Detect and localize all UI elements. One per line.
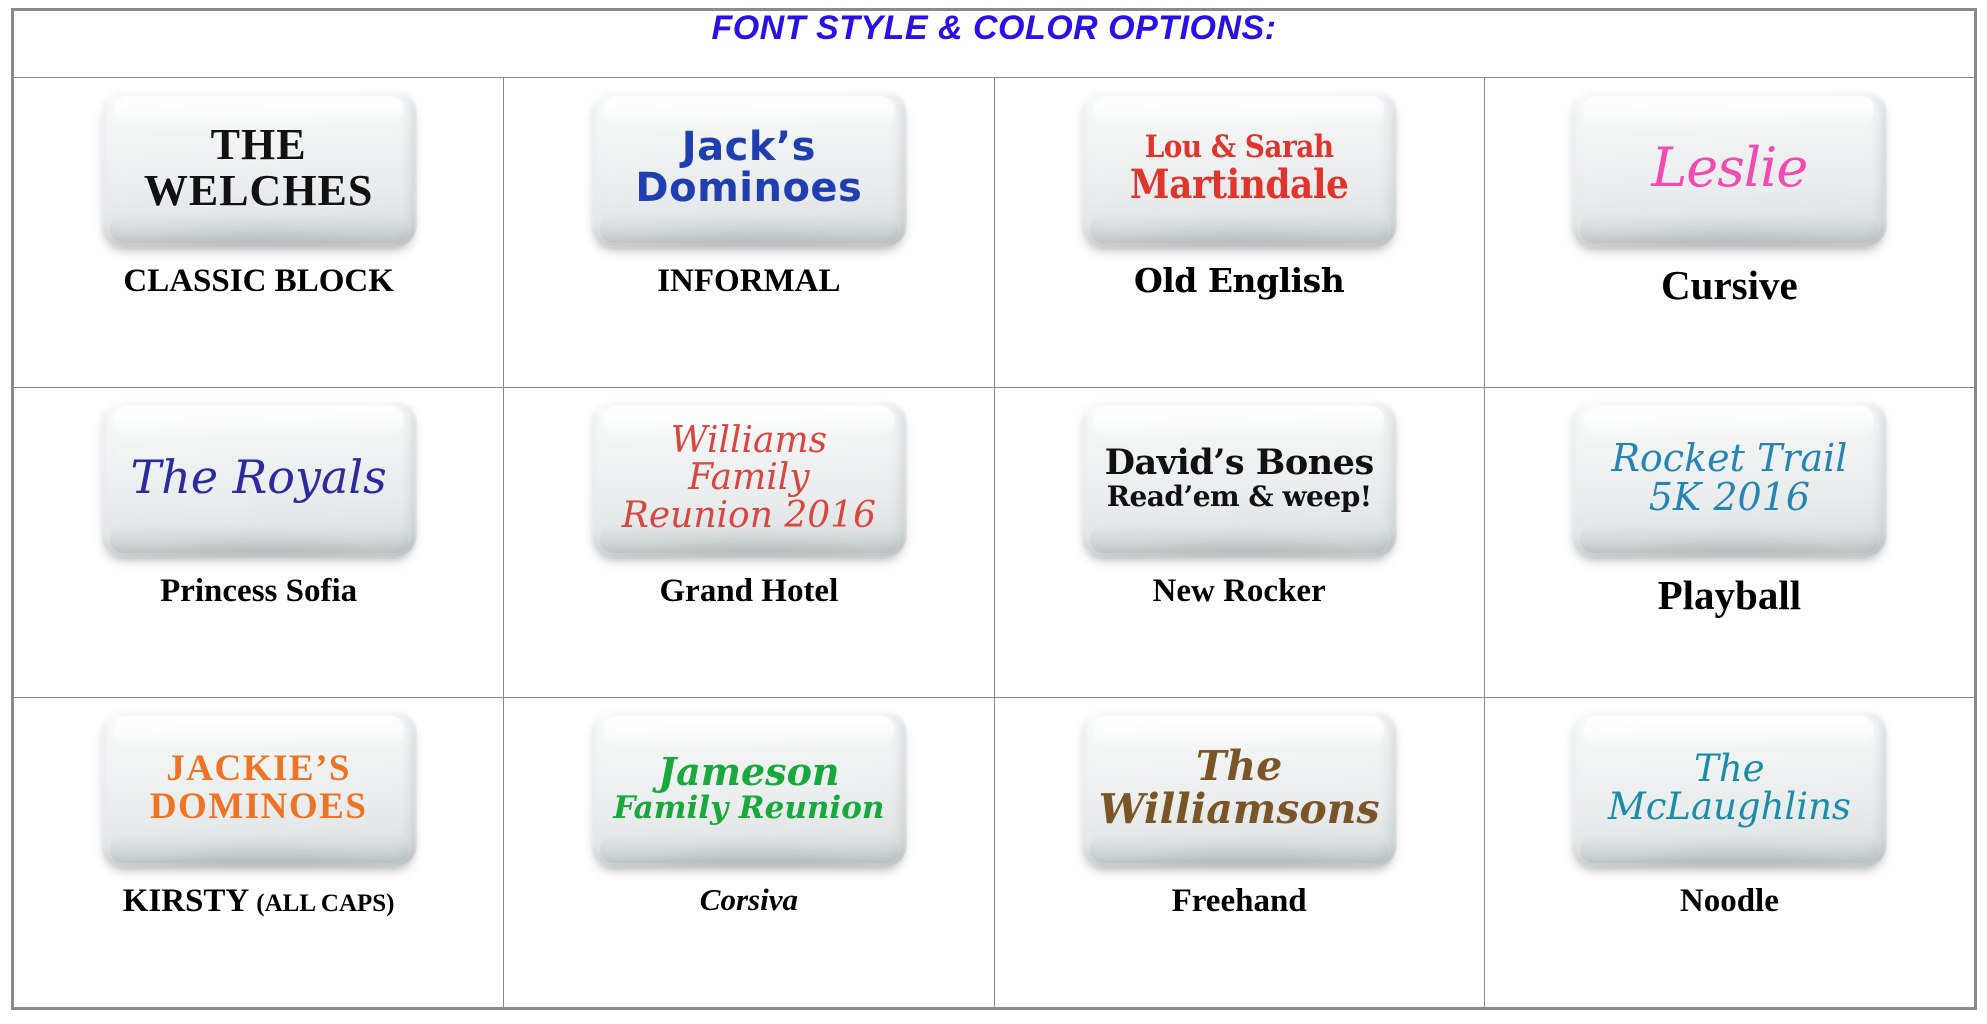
tile-line-2: Dominoes — [115, 788, 403, 826]
tile-line-2: McLaughlins — [1585, 788, 1873, 826]
font-name-label: Old English — [1134, 264, 1344, 299]
tile-line-2: Family Reunion — [605, 792, 893, 824]
tile-line-1: The Royals — [131, 450, 387, 504]
font-grid: FONT STYLE & COLOR OPTIONS: THE WELCHES … — [13, 10, 1975, 1008]
tile-line-1: Jameson — [658, 749, 839, 794]
font-name-label: CLASSIC BLOCK — [123, 264, 394, 299]
font-option-cell-kirsty[interactable]: Jackie’s Dominoes KIRSTY (ALL CAPS) — [14, 698, 504, 1008]
font-option-cell-new-rocker[interactable]: David’s Bones Read’em & weep! New Rocker — [994, 388, 1484, 698]
font-options-page: FONT STYLE & COLOR OPTIONS: THE WELCHES … — [0, 0, 1987, 1024]
font-name-note: (ALL CAPS) — [256, 890, 394, 917]
tile-inscription: Lou & Sarah Martindale — [1081, 131, 1397, 205]
font-name-label: Grand Hotel — [660, 574, 839, 609]
tile-line-2: Reunion 2016 — [605, 497, 893, 534]
domino-tile-noodle: The McLaughlins — [1571, 709, 1887, 867]
font-option-cell-freehand[interactable]: The Williamsons Freehand — [994, 698, 1484, 1008]
header-cell: FONT STYLE & COLOR OPTIONS: — [14, 11, 1975, 78]
font-name-label: Corsiva — [700, 884, 798, 917]
tile-line-1: The — [1694, 747, 1764, 790]
font-name-main: KIRSTY — [123, 883, 248, 919]
font-row-3: Jackie’s Dominoes KIRSTY (ALL CAPS) — [14, 698, 1975, 1008]
font-name-label: Princess Sofia — [160, 574, 357, 609]
font-row-1: THE WELCHES CLASSIC BLOCK Jack’s Dominoe… — [14, 78, 1975, 388]
tile-line-2: Read’em & weep! — [1095, 482, 1383, 511]
tile-line-2: Martindale — [1095, 164, 1383, 206]
tile-line-2: Williamsons — [1095, 788, 1383, 831]
domino-tile-grand-hotel: Williams Family Reunion 2016 — [591, 399, 907, 557]
font-option-cell-grand-hotel[interactable]: Williams Family Reunion 2016 Grand Hotel — [504, 388, 994, 698]
tile-line-1: Lou & Sarah — [1095, 131, 1383, 163]
tile-line-2: WELCHES — [115, 168, 403, 214]
domino-tile-informal: Jack’s Dominoes — [591, 89, 907, 247]
tile-line-1: The — [1196, 742, 1282, 790]
tile-inscription: Jack’s Dominoes — [591, 127, 907, 210]
font-option-cell-princess-sofia[interactable]: The Royals Princess Sofia — [14, 388, 504, 698]
font-row-2: The Royals Princess Sofia Williams Famil… — [14, 388, 1975, 698]
domino-tile-cursive: Leslie — [1571, 89, 1887, 247]
tile-line-1: Williams Family — [671, 420, 828, 498]
font-name-label: New Rocker — [1153, 574, 1326, 609]
domino-tile-kirsty: Jackie’s Dominoes — [101, 709, 417, 867]
tile-inscription: Rocket Trail 5K 2016 — [1571, 439, 1887, 518]
font-option-cell-playball[interactable]: Rocket Trail 5K 2016 Playball — [1484, 388, 1974, 698]
tile-line-1: Rocket Trail — [1611, 436, 1847, 480]
tile-inscription: Williams Family Reunion 2016 — [591, 422, 907, 534]
font-options-table: FONT STYLE & COLOR OPTIONS: THE WELCHES … — [11, 8, 1977, 1010]
tile-line-1: Jackie’s — [166, 748, 351, 789]
font-name-label: Playball — [1658, 574, 1802, 617]
domino-tile-new-rocker: David’s Bones Read’em & weep! — [1081, 399, 1397, 557]
tile-line-1: David’s Bones — [1095, 445, 1383, 481]
domino-tile-classic-block: THE WELCHES — [101, 89, 417, 247]
tile-inscription: Jameson Family Reunion — [591, 752, 907, 824]
tile-inscription: Leslie — [1571, 140, 1887, 196]
domino-tile-freehand: The Williamsons — [1081, 709, 1397, 867]
tile-inscription: The Williamsons — [1081, 745, 1397, 830]
font-option-cell-noodle[interactable]: The McLaughlins Noodle — [1484, 698, 1974, 1008]
tile-line-1: Jack’s — [682, 124, 816, 170]
font-name-label: INFORMAL — [657, 264, 840, 299]
domino-tile-old-english: Lou & Sarah Martindale — [1081, 89, 1397, 247]
font-option-cell-cursive[interactable]: Leslie Cursive — [1484, 78, 1974, 388]
tile-inscription: The Royals — [101, 454, 417, 502]
font-name-label: Cursive — [1661, 264, 1798, 307]
domino-tile-corsiva: Jameson Family Reunion — [591, 709, 907, 867]
tile-line-2: Dominoes — [605, 168, 893, 210]
tile-inscription: The McLaughlins — [1571, 750, 1887, 827]
font-name-label: Noodle — [1680, 884, 1779, 919]
font-option-cell-informal[interactable]: Jack’s Dominoes INFORMAL — [504, 78, 994, 388]
font-option-cell-corsiva[interactable]: Jameson Family Reunion Corsiva — [504, 698, 994, 1008]
font-option-cell-classic-block[interactable]: THE WELCHES CLASSIC BLOCK — [14, 78, 504, 388]
font-name-label: KIRSTY (ALL CAPS) — [123, 884, 395, 919]
page-title: FONT STYLE & COLOR OPTIONS: — [711, 9, 1276, 47]
font-name-label: Freehand — [1172, 884, 1307, 919]
tile-line-1: Leslie — [1651, 136, 1807, 199]
domino-tile-playball: Rocket Trail 5K 2016 — [1571, 399, 1887, 557]
tile-inscription: David’s Bones Read’em & weep! — [1081, 445, 1397, 511]
tile-inscription: THE WELCHES — [101, 122, 417, 214]
font-option-cell-old-english[interactable]: Lou & Sarah Martindale Old English — [994, 78, 1484, 388]
domino-tile-princess-sofia: The Royals — [101, 399, 417, 557]
tile-line-1: THE — [211, 120, 307, 169]
tile-line-2: 5K 2016 — [1585, 478, 1873, 518]
header-row: FONT STYLE & COLOR OPTIONS: — [14, 11, 1975, 78]
tile-inscription: Jackie’s Dominoes — [101, 750, 417, 827]
